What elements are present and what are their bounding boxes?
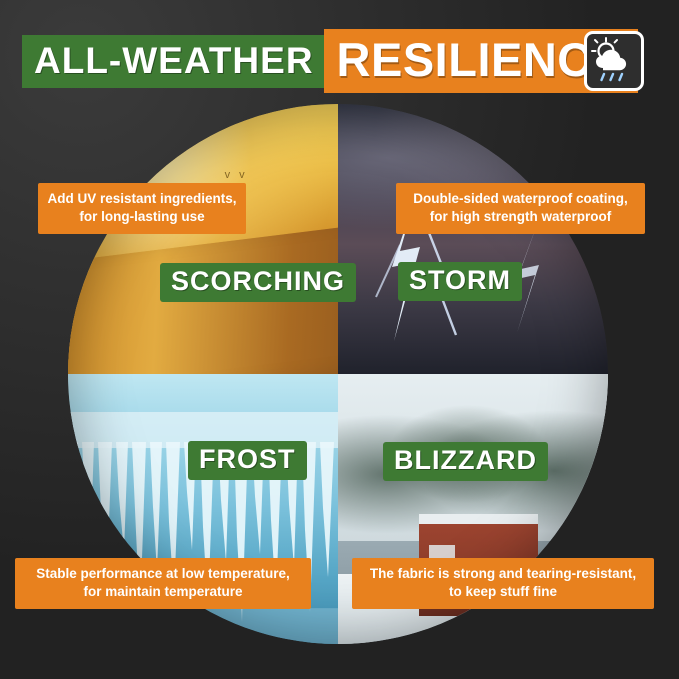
- title-part-all-weather: ALL-WEATHER: [22, 35, 324, 88]
- callout-scorching: Add UV resistant ingredients, for long-l…: [38, 183, 246, 234]
- callout-storm-line1: Double-sided waterproof coating,: [405, 190, 636, 208]
- label-scorching: SCORCHING: [160, 263, 356, 302]
- quadrant-storm-image: [338, 104, 608, 374]
- callout-scorching-line2: for long-lasting use: [47, 208, 237, 226]
- poster-root: ALL-WEATHER RESILIENCE v v: [0, 0, 679, 679]
- callout-blizzard-line2: to keep stuff fine: [361, 583, 645, 601]
- callout-storm: Double-sided waterproof coating, for hig…: [396, 183, 645, 234]
- page-title: ALL-WEATHER RESILIENCE: [22, 29, 638, 93]
- callout-blizzard-line1: The fabric is strong and tearing-resista…: [361, 565, 645, 583]
- callout-frost-line2: for maintain temperature: [24, 583, 302, 601]
- label-storm: STORM: [398, 262, 522, 301]
- label-frost: FROST: [188, 441, 307, 480]
- header: ALL-WEATHER RESILIENCE: [0, 22, 679, 100]
- birds-icon: v v: [225, 169, 248, 181]
- callout-storm-line2: for high strength waterproof: [405, 208, 636, 226]
- callout-frost-line1: Stable performance at low temperature,: [24, 565, 302, 583]
- sun-cloud-rain-icon: [584, 31, 644, 91]
- callout-frost: Stable performance at low temperature, f…: [15, 558, 311, 609]
- callout-scorching-line1: Add UV resistant ingredients,: [47, 190, 237, 208]
- quadrant-scorching-image: v v: [68, 104, 338, 374]
- callout-blizzard: The fabric is strong and tearing-resista…: [352, 558, 654, 609]
- label-blizzard: BLIZZARD: [383, 442, 548, 481]
